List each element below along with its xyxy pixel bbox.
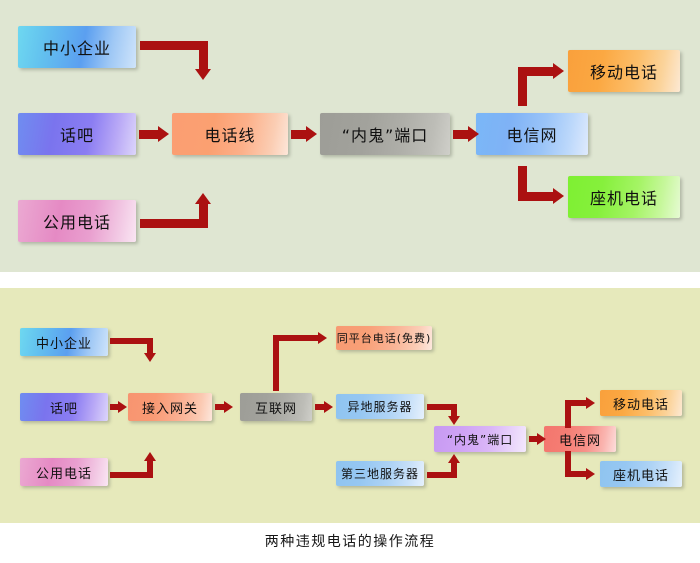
arrowhead-right-icon (553, 63, 564, 79)
node-label: 互联网 (255, 398, 297, 417)
arrowhead-right-icon (468, 126, 479, 142)
arrowhead-down-icon (144, 353, 156, 362)
node-label: 电信网 (559, 430, 601, 449)
node-telecom-network-traditional[interactable]: 电信网 (476, 113, 588, 155)
arrowhead-up-icon (144, 452, 156, 461)
node-label: 公用电话 (36, 463, 92, 482)
node-same-platform-call[interactable]: 同平台电话(免费) (336, 326, 432, 350)
arrowhead-right-icon (306, 126, 317, 142)
node-payphone-traditional[interactable]: 公用电话 (18, 200, 136, 242)
edge-segment (518, 192, 556, 201)
arrowhead-right-icon (118, 401, 127, 413)
node-insider-port-traditional[interactable]: “内鬼”端口 (320, 113, 450, 155)
edge-segment (273, 335, 321, 341)
node-label: 话吧 (60, 122, 94, 146)
node-label: 话吧 (50, 398, 78, 417)
arrowhead-right-icon (224, 401, 233, 413)
arrowhead-right-icon (318, 332, 327, 344)
node-label: 同平台电话(免费) (337, 330, 432, 346)
edge-segment (199, 203, 208, 228)
node-label: 座机电话 (590, 185, 658, 209)
node-insider-port-voip[interactable]: “内鬼”端口 (434, 426, 526, 452)
edge-segment (147, 460, 153, 478)
node-label: 电话线 (204, 122, 255, 146)
node-remote-server[interactable]: 异地服务器 (336, 394, 424, 419)
node-telephone-line[interactable]: 电话线 (172, 113, 288, 155)
caption-area: 两种违规电话的操作流程 (0, 523, 700, 563)
edge-segment (518, 67, 556, 76)
edge-segment (451, 462, 457, 478)
node-internet[interactable]: 互联网 (240, 393, 312, 421)
arrowhead-right-icon (158, 126, 169, 142)
node-label: “内鬼”端口 (342, 122, 429, 146)
node-payphone-voip[interactable]: 公用电话 (20, 458, 108, 486)
arrowhead-up-icon (195, 193, 211, 204)
arrowhead-right-icon (586, 397, 595, 409)
arrowhead-right-icon (553, 188, 564, 204)
arrowhead-right-icon (586, 468, 595, 480)
node-label: 第三地服务器 (341, 465, 419, 482)
edge-segment (273, 335, 279, 391)
diagram-panel-traditional: 中小企业 话吧 公用电话 电话线 “内鬼”端口 电信网 移动电话 座机电话 (0, 0, 700, 272)
edge-segment (110, 338, 152, 344)
node-label: 移动电话 (590, 59, 658, 83)
node-label: 中小企业 (43, 35, 111, 59)
figure-caption: 两种违规电话的操作流程 (0, 531, 700, 551)
node-third-location-server[interactable]: 第三地服务器 (336, 461, 424, 486)
edge-segment (199, 41, 208, 71)
node-mobile-phone-voip[interactable]: 移动电话 (600, 390, 682, 416)
node-label: 座机电话 (613, 465, 669, 484)
diagram-panel-voip: 中小企业 话吧 公用电话 接入网关 互联网 同平台电话(免费) 异地服务器 第三… (0, 288, 700, 523)
node-label: 移动电话 (613, 394, 669, 413)
node-label: 公用电话 (43, 209, 111, 233)
node-label: “内鬼”端口 (447, 431, 513, 448)
node-label: 电信网 (506, 122, 557, 146)
node-sme-traditional[interactable]: 中小企业 (18, 26, 136, 68)
node-huaba-voip[interactable]: 话吧 (20, 393, 108, 421)
node-telecom-network-voip[interactable]: 电信网 (544, 426, 616, 452)
node-label: 接入网关 (142, 398, 198, 417)
node-landline-phone-traditional[interactable]: 座机电话 (568, 176, 680, 218)
edge-segment (140, 219, 208, 228)
node-sme-voip[interactable]: 中小企业 (20, 328, 108, 356)
edge-segment (518, 166, 527, 193)
node-huaba-traditional[interactable]: 话吧 (18, 113, 136, 155)
arrowhead-down-icon (195, 69, 211, 80)
arrowhead-up-icon (448, 454, 460, 463)
arrowhead-right-icon (537, 433, 546, 445)
edge-segment (140, 41, 208, 50)
node-label: 异地服务器 (347, 398, 412, 415)
arrowhead-right-icon (324, 401, 333, 413)
edge-segment (110, 472, 152, 478)
node-access-gateway[interactable]: 接入网关 (128, 393, 212, 421)
arrowhead-down-icon (448, 416, 460, 425)
node-mobile-phone-traditional[interactable]: 移动电话 (568, 50, 680, 92)
node-landline-phone-voip[interactable]: 座机电话 (600, 461, 682, 487)
node-label: 中小企业 (36, 333, 92, 352)
